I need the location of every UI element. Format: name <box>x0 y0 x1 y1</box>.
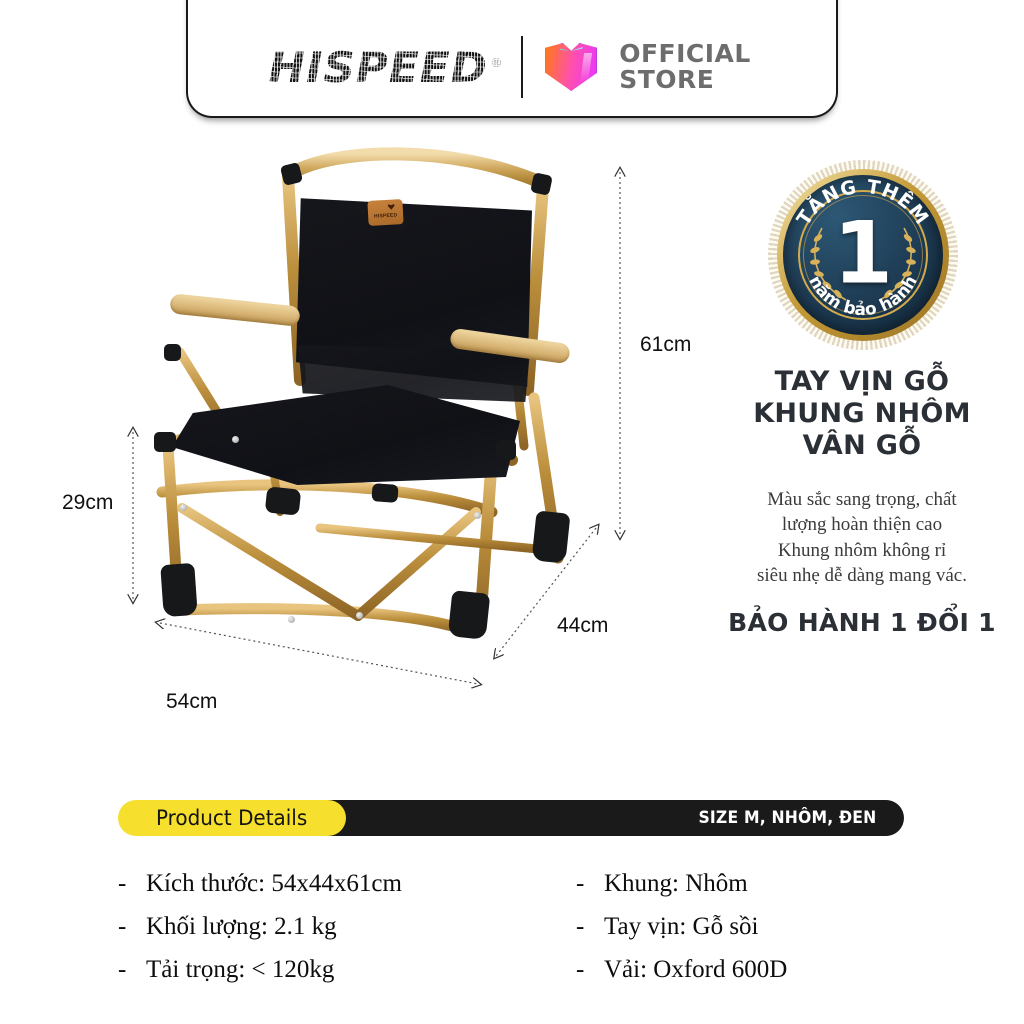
label-heart-icon <box>388 204 395 210</box>
product-photo: HISPEED <box>120 140 590 660</box>
leather-brand-label: HISPEED <box>367 199 403 226</box>
product-infographic-page: HISPEED® OFFICIAL STORE <box>0 0 1024 1024</box>
feature-title-line-1: TAY VỊN GỖ <box>700 366 1024 398</box>
frame-cap-mid-right <box>371 483 398 503</box>
frame-rivet <box>180 504 187 511</box>
spec-column-right: - Khung: Nhôm - Tay vịn: Gỗ sồi - Vải: O… <box>518 862 918 991</box>
spec-text: Tải trọng: < 120kg <box>146 948 334 991</box>
heart-logo-icon <box>545 43 597 91</box>
spec-bullet: - <box>576 905 586 948</box>
warranty-badge-arc-text: TĂNG THÊM năm bảo hành <box>768 160 958 350</box>
frame-rivet <box>474 512 481 519</box>
label-brand-text: HISPEED <box>374 212 398 219</box>
feature-title-line-2: KHUNG NHÔM <box>700 398 1024 430</box>
spec-bullet: - <box>118 862 128 905</box>
variant-label: SIZE M, NHÔM, ĐEN <box>698 808 876 828</box>
spec-lists: - Kích thước: 54x44x61cm - Khối lượng: 2… <box>118 862 918 991</box>
feature-description-line-1: Màu sắc sang trọng, chất <box>700 487 1024 512</box>
product-details-label: Product Details <box>156 806 307 830</box>
spec-item: - Kích thước: 54x44x61cm <box>118 862 518 905</box>
svg-text:TĂNG THÊM: TĂNG THÊM <box>793 176 934 230</box>
svg-text:năm bảo hành: năm bảo hành <box>804 272 921 320</box>
foot-cap-front-right <box>448 590 491 640</box>
spec-item: - Tay vịn: Gỗ sồi <box>576 905 918 948</box>
foot-cap-rear-left <box>265 486 302 515</box>
product-details-banner: SIZE M, NHÔM, ĐEN Product Details <box>118 800 904 836</box>
spec-text: Tay vịn: Gỗ sồi <box>604 905 759 948</box>
header-divider <box>521 36 523 98</box>
feature-description-line-3: Khung nhôm không rỉ <box>700 538 1024 563</box>
feature-title-line-3: VÂN GỖ <box>700 430 1024 462</box>
foot-cap-rear-right <box>531 510 570 563</box>
product-details-pill: Product Details <box>118 800 346 836</box>
spec-text: Khung: Nhôm <box>604 862 748 905</box>
spec-bullet: - <box>576 862 586 905</box>
spec-column-left: - Kích thước: 54x44x61cm - Khối lượng: 2… <box>118 862 518 991</box>
official-store-line-2: STORE <box>619 67 751 94</box>
spec-item: - Tải trọng: < 120kg <box>118 948 518 991</box>
spec-text: Kích thước: 54x44x61cm <box>146 862 402 905</box>
frame-rivet <box>232 436 239 443</box>
foot-cap-front-left <box>160 563 198 617</box>
dimension-label-height: 61cm <box>640 333 691 357</box>
frame-cap-seat-left <box>154 432 176 452</box>
dimension-label-seat-height: 29cm <box>62 491 113 515</box>
feature-description: Màu sắc sang trọng, chất lượng hoàn thiệ… <box>700 487 1024 589</box>
feature-description-line-4: siêu nhẹ dễ dàng mang vác. <box>700 563 1024 588</box>
spec-bullet: - <box>118 948 128 991</box>
frame-cap-seat-right <box>496 440 516 460</box>
frame-rivet <box>356 612 363 619</box>
feature-description-line-2: lượng hoàn thiện cao <box>700 512 1024 537</box>
brand-wordmark: HISPEED® <box>269 43 504 92</box>
warranty-arc-top: TĂNG THÊM <box>793 176 934 230</box>
spec-text: Vải: Oxford 600D <box>604 948 787 991</box>
spec-bullet: - <box>576 948 586 991</box>
official-store-label: OFFICIAL STORE <box>619 41 751 94</box>
spec-item: - Khung: Nhôm <box>576 862 918 905</box>
dimension-label-depth: 44cm <box>557 614 608 638</box>
brand-name: HISPEED <box>269 43 489 92</box>
frame-rivet <box>288 616 295 623</box>
warranty-policy-text: BẢO HÀNH 1 ĐỔI 1 <box>700 608 1024 637</box>
warranty-badge: 1 TĂNG THÊM năm bảo hành <box>768 160 958 350</box>
spec-item: - Khối lượng: 2.1 kg <box>118 905 518 948</box>
frame-cap-arm-left <box>164 344 181 361</box>
store-header-card: HISPEED® OFFICIAL STORE <box>186 0 838 118</box>
spec-text: Khối lượng: 2.1 kg <box>146 905 337 948</box>
registered-trademark-icon: ® <box>490 56 504 70</box>
warranty-arc-bottom: năm bảo hành <box>804 272 921 320</box>
spec-item: - Vải: Oxford 600D <box>576 948 918 991</box>
official-store-line-1: OFFICIAL <box>619 41 751 68</box>
feature-title: TAY VỊN GỖ KHUNG NHÔM VÂN GỖ <box>700 366 1024 462</box>
spec-bullet: - <box>118 905 128 948</box>
dimension-label-width: 54cm <box>166 690 217 714</box>
